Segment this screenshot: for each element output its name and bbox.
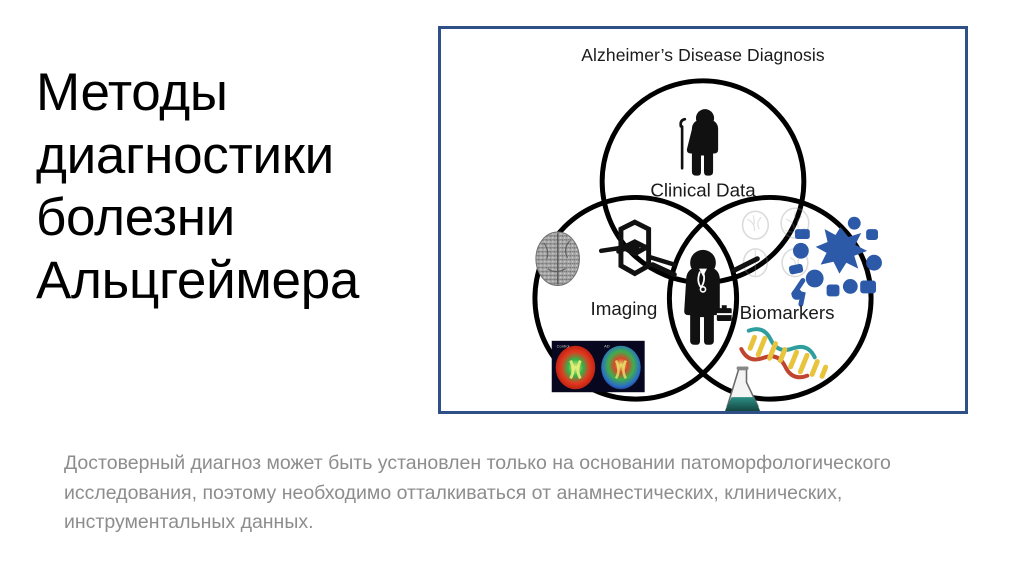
brain-mri-icon (536, 232, 580, 285)
venn-label-clinical-data: Clinical Data (650, 179, 756, 200)
pet-scan-panel-icon: Control AD (552, 341, 645, 392)
figure-frame: Alzheimer’s Disease Diagnosis (438, 26, 968, 414)
title-block: Методы диагностики болезни Альцгеймера (36, 62, 436, 312)
slide-caption: Достоверный диагноз может быть установле… (64, 449, 900, 538)
figure-inner: Alzheimer’s Disease Diagnosis (441, 29, 965, 411)
venn-diagram: Clinical Data (441, 63, 965, 411)
svg-text:Control: Control (557, 344, 570, 349)
page-title: Методы диагностики болезни Альцгеймера (36, 62, 436, 312)
venn-label-biomarkers: Biomarkers (740, 302, 835, 323)
slide-canvas: Методы диагностики болезни Альцгеймера A… (0, 0, 1024, 574)
venn-svg: Clinical Data (441, 63, 965, 411)
venn-label-imaging: Imaging (591, 298, 658, 319)
svg-text:AD: AD (604, 344, 610, 349)
